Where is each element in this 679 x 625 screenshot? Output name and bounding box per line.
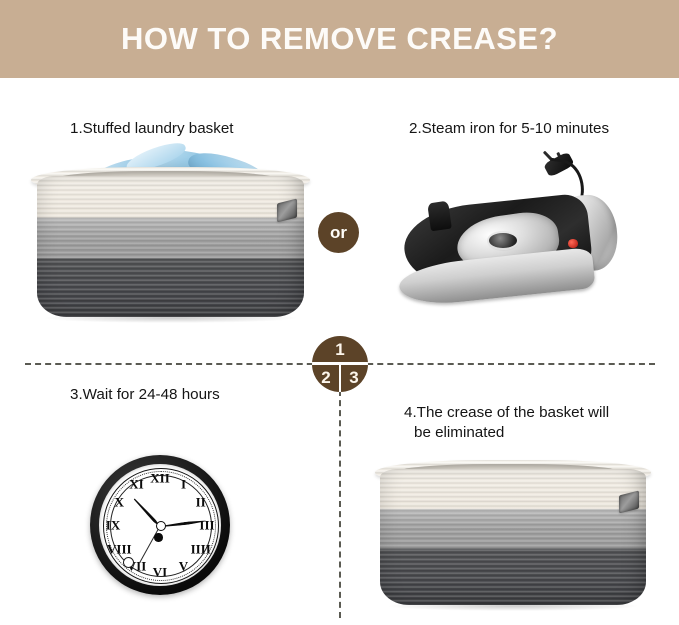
clock-numeral-6: VI [153,566,167,579]
clock-numeral-9: IX [106,519,120,532]
step-1-illustration-laundry-basket [28,148,313,320]
step-3-illustration-wall-clock: XII I II III IIII V VI VII VIII IX X XI [90,455,230,595]
rope-basket-filled [28,148,313,320]
infographic-page: HOW TO REMOVE CREASE? 1.Stuffed laundry … [0,0,679,625]
clock-numeral-5: V [179,559,188,572]
clock-numeral-3: III [199,519,214,532]
badge-divider-vertical [339,364,342,392]
step-4-caption-line-2: be eliminated [404,423,609,443]
vertical-divider [339,390,341,618]
basket-body [37,176,305,317]
header-banner: HOW TO REMOVE CREASE? [0,0,679,78]
clock-numeral-4: IIII [191,542,211,555]
basket-body [380,469,645,605]
analog-clock: XII I II III IIII V VI VII VIII IX X XI [90,455,230,595]
clock-numeral-8: VIII [107,542,132,555]
step-2-illustration-steam-iron [392,150,624,322]
step-3-caption: 3.Wait for 24-48 hours [70,385,220,405]
step-sequence-badge: 1 2 3 [312,336,368,392]
badge-segment-2: 2 [312,364,340,392]
step-1-caption: 1.Stuffed laundry basket [70,119,234,139]
page-title: HOW TO REMOVE CREASE? [121,21,558,57]
iron-temperature-dial [489,233,517,248]
clock-numeral-2: II [196,495,206,508]
clock-numeral-10: X [115,495,124,508]
iron-tank-cap [427,200,452,230]
or-badge-label: or [330,224,347,241]
steam-iron [392,150,624,322]
step-4-caption-line-1: 4.The crease of the basket will [404,404,609,421]
clock-counterweight [154,533,162,541]
clock-numeral-11: XI [129,478,143,491]
clock-numeral-1: I [181,478,186,491]
step-4-illustration-empty-basket [372,442,654,608]
step-2-caption: 2.Steam iron for 5-10 minutes [409,119,609,139]
basket-shadow [45,313,296,323]
or-badge: or [318,212,359,253]
basket-shadow [389,601,637,611]
badge-segment-1: 1 [312,336,368,364]
rope-basket-empty [372,442,654,608]
clock-numeral-12: XII [150,472,170,485]
badge-segment-3: 3 [340,364,368,392]
iron-indicator-light [568,239,577,248]
